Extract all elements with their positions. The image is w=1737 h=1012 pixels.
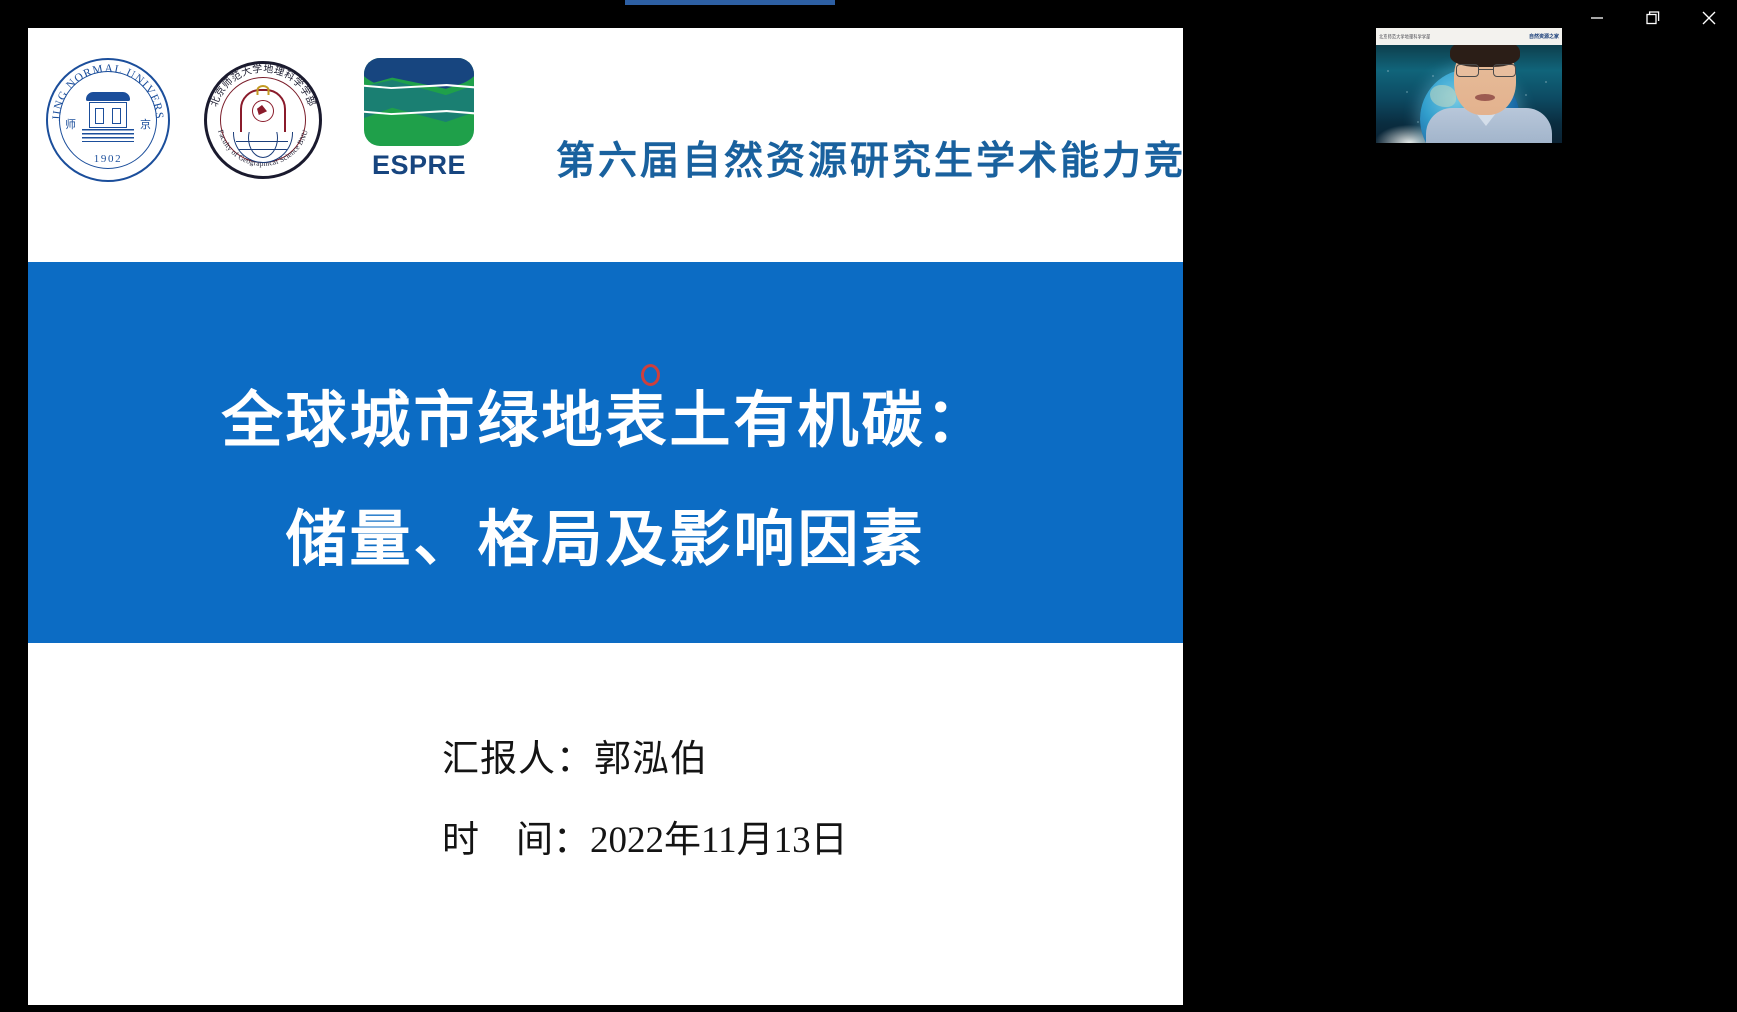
webcam-person-mouth [1475, 94, 1495, 101]
espre-logo: ESPRE [356, 58, 482, 182]
logo-row: BEIJING NORMAL UNIVERSITY 师 京 1902 [46, 58, 482, 182]
bnu-seal-logo: BEIJING NORMAL UNIVERSITY 师 京 1902 [46, 58, 170, 182]
restore-button[interactable] [1625, 1, 1681, 35]
webcam-person-glasses-icon [1456, 64, 1516, 77]
fgs-seal-logo: 北京师范大学地理科学学部 Faculty of Geographical Sci… [204, 61, 322, 179]
minimize-button[interactable] [1569, 1, 1625, 35]
slide-title-line-2: 储量、格局及影响因素 [28, 481, 1183, 600]
bnu-char-right: 京 [140, 116, 151, 132]
close-button[interactable] [1681, 1, 1737, 35]
bnu-founding-year: 1902 [46, 153, 170, 165]
date-label: 时 间：2022年11月13日 [442, 809, 848, 863]
bnu-gate-icon [80, 88, 136, 144]
slide-title: 全球城市绿地表土有机碳： 储量、格局及影响因素 [28, 362, 1183, 600]
event-title: 第六届自然资源研究生学术能力竞赛 [556, 130, 1183, 186]
laser-pointer-cursor [641, 364, 660, 386]
espre-wave-mark-icon [364, 58, 474, 146]
webcam-banner-left-text: 北京师范大学地理科学学部 [1379, 33, 1431, 41]
presenter-label: 汇报人：郭泓伯 [442, 728, 708, 782]
presenter-webcam-thumbnail[interactable]: 北京师范大学地理科学学部 自然资源之家 [1376, 28, 1562, 143]
restore-icon [1642, 7, 1664, 29]
window-controls [1521, 0, 1737, 36]
close-icon [1698, 7, 1720, 29]
title-banner: 全球城市绿地表土有机碳： 储量、格局及影响因素 [28, 262, 1183, 643]
slide-title-line-1: 全球城市绿地表土有机碳： [221, 385, 989, 456]
presentation-slide: BEIJING NORMAL UNIVERSITY 师 京 1902 [28, 28, 1183, 1005]
bnu-char-left: 师 [65, 116, 76, 132]
espre-wordmark: ESPRE [372, 150, 466, 181]
slide-footer: 汇报人：郭泓伯 时 间：2022年11月13日 [28, 643, 1183, 1005]
screen-share-indicator-strip [625, 0, 835, 5]
slide-header: BEIJING NORMAL UNIVERSITY 师 京 1902 [28, 28, 1183, 262]
minimize-icon [1586, 7, 1608, 29]
